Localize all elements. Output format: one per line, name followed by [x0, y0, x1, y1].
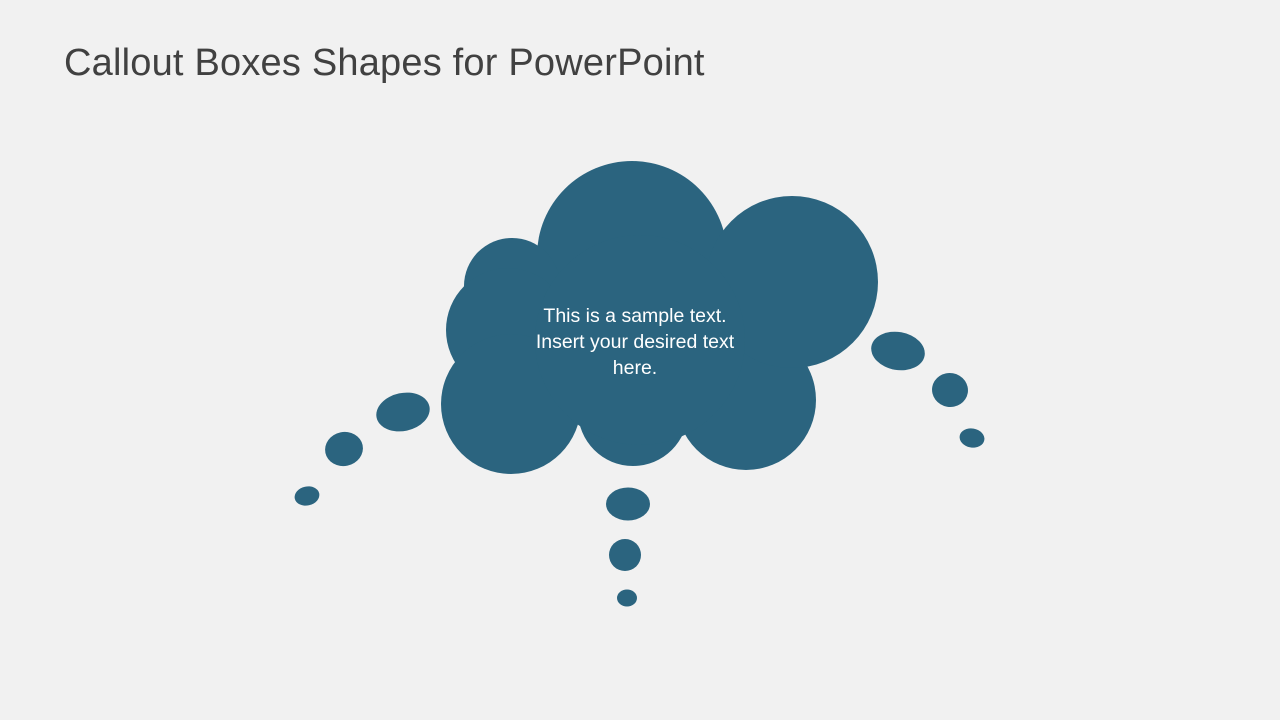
callout-text-line-2: Insert your desired text — [515, 329, 755, 355]
slide-canvas: Callout Boxes Shapes for PowerPoint This… — [0, 0, 1280, 720]
left-bubble-large — [373, 388, 434, 436]
right-bubble-medium — [929, 370, 970, 410]
tail-bottom-group — [606, 488, 650, 607]
bottom-bubble-small — [617, 590, 637, 607]
left-bubble-small — [293, 484, 321, 508]
tail-left-group — [293, 388, 434, 508]
right-bubble-large — [868, 328, 928, 375]
bottom-bubble-large — [606, 488, 650, 521]
callout-text-block[interactable]: This is a sample text. Insert your desir… — [515, 303, 755, 381]
callout-text-line-3: here. — [515, 355, 755, 381]
tail-right-group — [868, 328, 986, 450]
right-bubble-small — [958, 426, 986, 449]
bottom-bubble-medium — [609, 539, 641, 571]
callout-text-line-1: This is a sample text. — [515, 303, 755, 329]
left-bubble-medium — [322, 428, 366, 469]
